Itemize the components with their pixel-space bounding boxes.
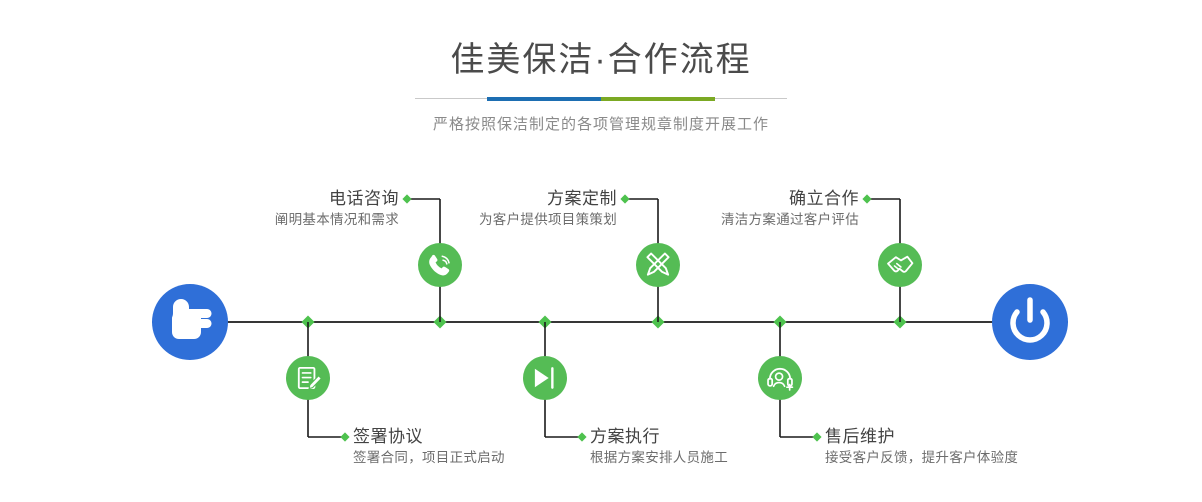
step-title: 确立合作: [721, 188, 859, 210]
step-node-6[interactable]: [758, 356, 802, 400]
step-label-4: 方案执行根据方案安排人员施工: [590, 426, 728, 468]
step-description: 接受客户反馈，提升客户体验度: [825, 448, 1018, 468]
step-node-3[interactable]: [636, 243, 680, 287]
step-node-4[interactable]: [523, 356, 567, 400]
step-title: 签署协议: [353, 426, 505, 448]
label-diamond: [812, 432, 821, 441]
step-label-3: 方案定制为客户提供项目策策划: [479, 188, 617, 230]
step-description: 为客户提供项目策策划: [479, 210, 617, 230]
step-label-1: 电话咨询阐明基本情况和需求: [275, 188, 399, 230]
step-description: 签署合同，项目正式启动: [353, 448, 505, 468]
end-node[interactable]: [992, 284, 1068, 360]
step-title: 售后维护: [825, 426, 1018, 448]
label-diamond: [620, 194, 629, 203]
label-diamond: [402, 194, 411, 203]
step-node-1[interactable]: [418, 243, 462, 287]
label-diamond: [862, 194, 871, 203]
step-title: 电话咨询: [275, 188, 399, 210]
step-description: 根据方案安排人员施工: [590, 448, 728, 468]
step-label-6: 售后维护接受客户反馈，提升客户体验度: [825, 426, 1018, 468]
step-title: 方案定制: [479, 188, 617, 210]
step-description: 清洁方案通过客户评估: [721, 210, 859, 230]
step-node-2[interactable]: [286, 356, 330, 400]
step-description: 阐明基本情况和需求: [275, 210, 399, 230]
connector-group: [302, 194, 907, 441]
step-node-5[interactable]: [878, 243, 922, 287]
step-label-2: 签署协议签署合同，项目正式启动: [353, 426, 505, 468]
label-diamond: [577, 432, 586, 441]
start-node[interactable]: [152, 284, 228, 360]
step-label-5: 确立合作清洁方案通过客户评估: [721, 188, 859, 230]
step-title: 方案执行: [590, 426, 728, 448]
process-flow-infographic: 佳美保洁·合作流程 严格按照保洁制定的各项管理规章制度开展工作: [0, 0, 1202, 502]
label-diamond: [340, 432, 349, 441]
